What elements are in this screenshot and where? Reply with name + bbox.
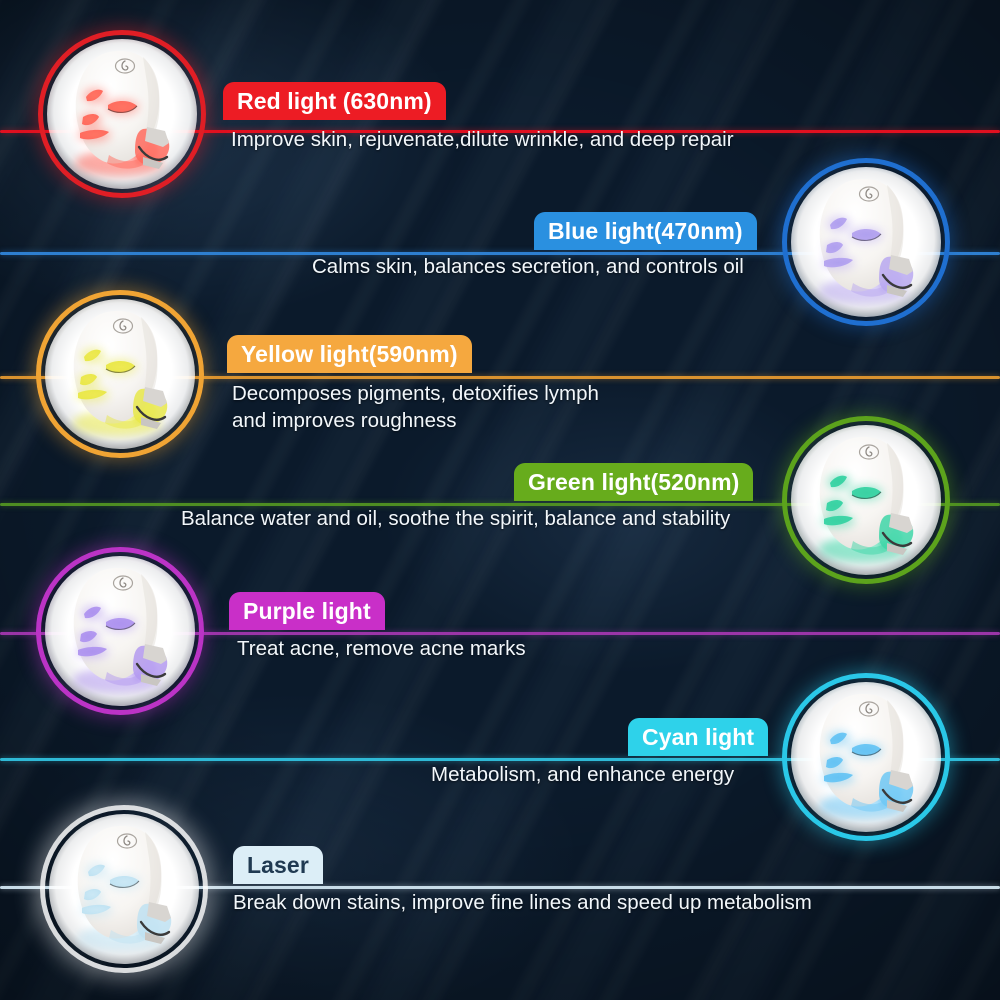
mask-illustration-cyan [782,673,950,841]
mask-illustration-yellow [36,290,204,458]
led-mask-device [45,299,195,449]
mask-illustration-laser [40,805,208,973]
led-mask-device [791,682,941,832]
led-mask-device [49,814,199,964]
mask-photo-yellow [36,290,204,458]
led-mask-device [791,167,941,317]
label-pill-cyan: Cyan light [628,718,768,756]
description-cyan: Metabolism, and enhance energy [431,762,734,789]
led-mask-device [791,425,941,575]
mask-photo-purple [36,547,204,715]
led-mask-device [47,39,197,189]
label-pill-laser: Laser [233,846,323,884]
description-yellow: Decomposes pigments, detoxifies lymph an… [232,381,599,434]
mask-illustration-red [38,30,206,198]
mask-photo-cyan [782,673,950,841]
label-pill-blue: Blue light(470nm) [534,212,757,250]
label-pill-purple: Purple light [229,592,385,630]
mask-photo-green [782,416,950,584]
description-laser: Break down stains, improve fine lines an… [233,890,812,917]
mask-illustration-blue [782,158,950,326]
description-blue: Calms skin, balances secretion, and cont… [312,254,744,281]
mask-illustration-purple [36,547,204,715]
description-purple: Treat acne, remove acne marks [237,636,526,663]
description-green: Balance water and oil, soothe the spirit… [181,506,730,533]
mask-photo-blue [782,158,950,326]
description-red: Improve skin, rejuvenate,dilute wrinkle,… [231,127,734,154]
label-pill-red: Red light (630nm) [223,82,446,120]
label-pill-yellow: Yellow light(590nm) [227,335,472,373]
mask-illustration-green [782,416,950,584]
label-pill-green: Green light(520nm) [514,463,753,501]
mask-photo-laser [40,805,208,973]
mask-photo-red [38,30,206,198]
led-mask-device [45,556,195,706]
